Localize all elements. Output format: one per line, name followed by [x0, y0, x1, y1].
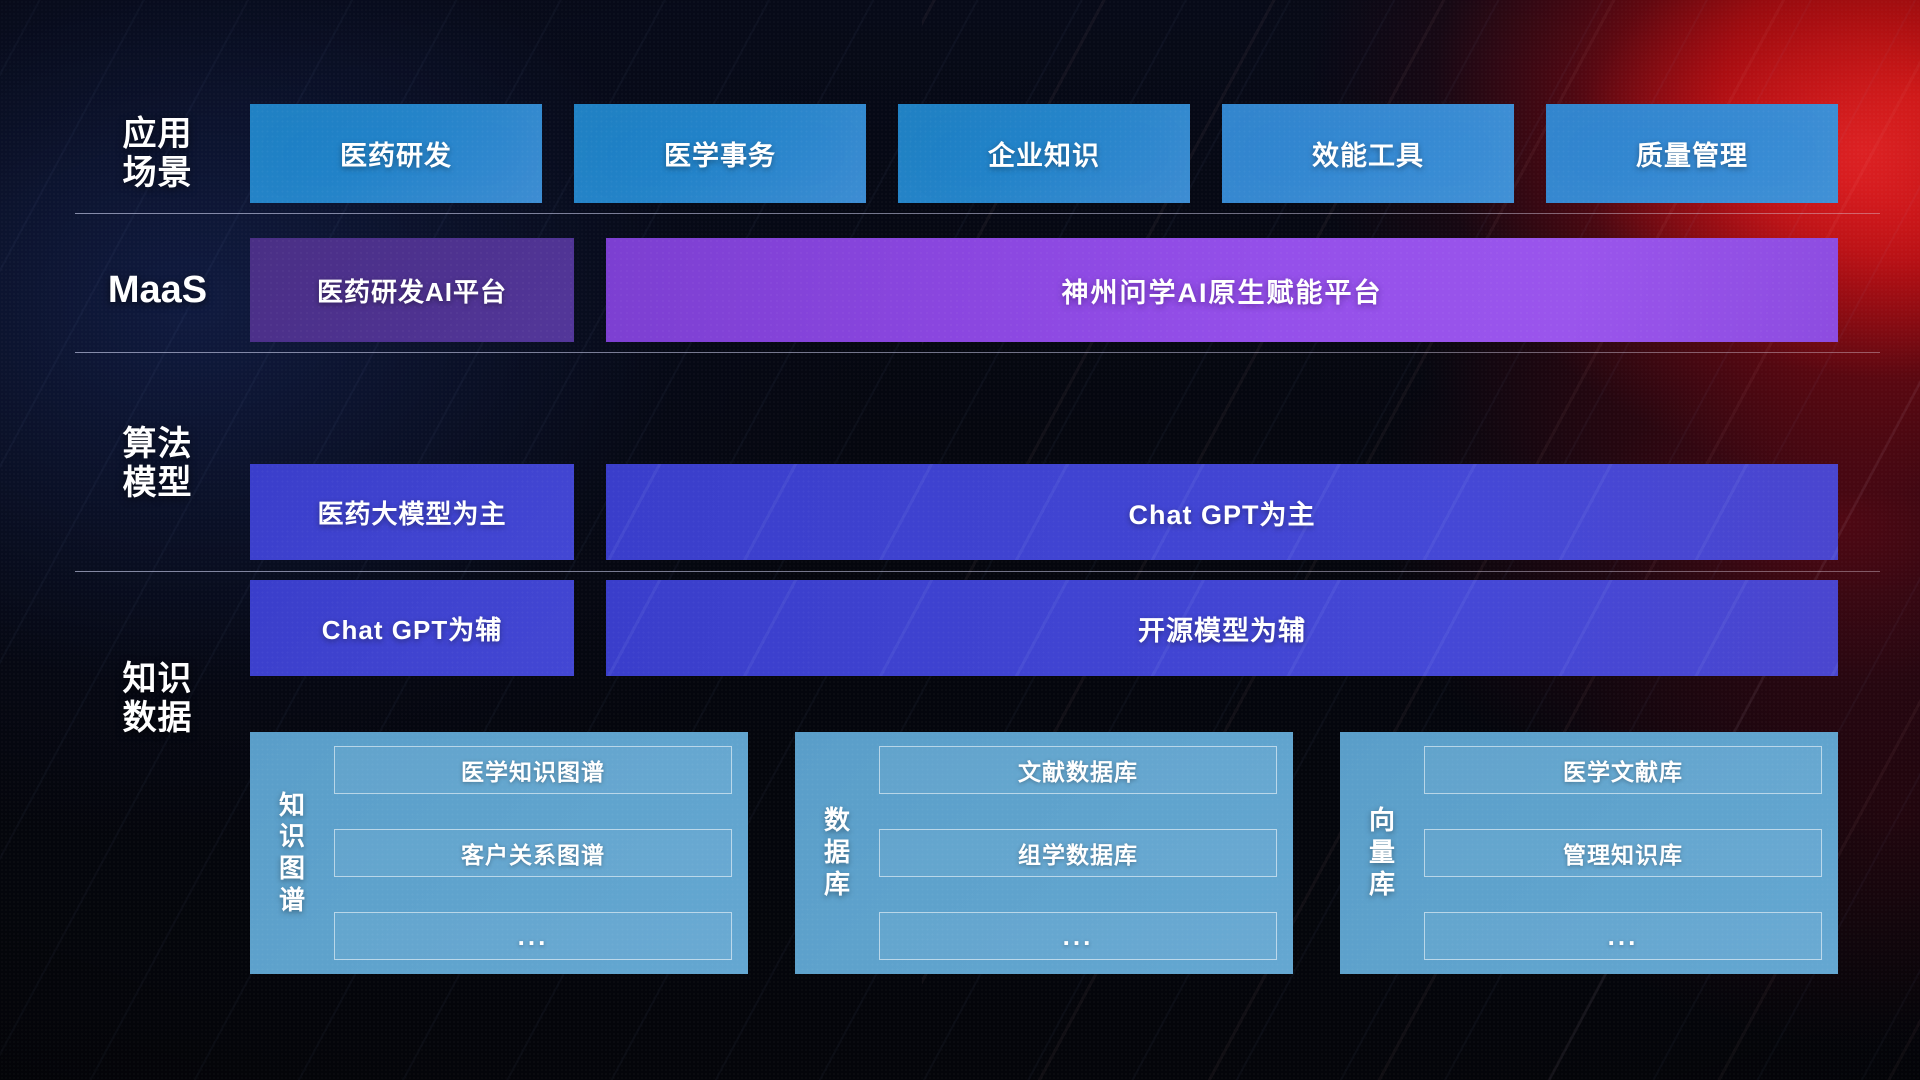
row-label-maas: MaaS [75, 268, 240, 312]
knowledge-panel-database: 数 据 库 文献数据库 组学数据库 ... [795, 732, 1293, 974]
vlabel-char-1: 知 [279, 790, 305, 822]
row-label-algorithm-models: 算法 模型 [75, 425, 240, 504]
row-label-knowledge-data: 知识 数据 [75, 660, 240, 739]
app-box-enterprise-knowledge[interactable]: 企业知识 [898, 104, 1190, 203]
knowledge-panel-vector-store: 向 量 库 医学文献库 管理知识库 ... [1340, 732, 1838, 974]
row-label-line-2: 模型 [75, 464, 240, 503]
vlabel-char-4: 谱 [279, 885, 305, 917]
row-label-application-scenarios: 应用 场景 [75, 115, 240, 194]
panel-vertical-label-vector-store: 向 量 库 [1354, 746, 1410, 960]
kd-item-literature-database[interactable]: 文献数据库 [879, 746, 1277, 794]
kd-item-omics-database[interactable]: 组学数据库 [879, 829, 1277, 877]
app-box-efficiency-tools[interactable]: 效能工具 [1222, 104, 1514, 203]
panel-vertical-label-database: 数 据 库 [809, 746, 865, 960]
algo-box-pharma-llm-primary[interactable]: 医药大模型为主 [250, 464, 574, 560]
vlabel-char-3: 库 [824, 869, 850, 901]
algorithm-model-line-secondary: Chat GPT为辅 开源模型为辅 [250, 580, 1838, 676]
row-label-line-1: 知识 [75, 660, 240, 699]
kd-item-more-knowledge-graph[interactable]: ... [334, 912, 732, 960]
row-label-line-2: 数据 [75, 699, 240, 738]
vlabel-char-1: 向 [1369, 805, 1395, 837]
maas-box-shenzhou-wenxue-platform[interactable]: 神州问学AI原生赋能平台 [606, 238, 1838, 342]
vlabel-char-1: 数 [824, 805, 850, 837]
maas-box-drug-rd-ai-platform[interactable]: 医药研发AI平台 [250, 238, 574, 342]
application-scenario-row: 医药研发 医学事务 企业知识 效能工具 质量管理 [250, 104, 1838, 203]
kd-item-more-vector-store[interactable]: ... [1424, 912, 1822, 960]
slide-canvas: 应用 场景 医药研发 医学事务 企业知识 效能工具 质量管理 MaaS 医药研发… [0, 0, 1920, 1080]
maas-row: 医药研发AI平台 神州问学AI原生赋能平台 [250, 238, 1838, 342]
app-box-drug-rd[interactable]: 医药研发 [250, 104, 542, 203]
vlabel-char-3: 图 [279, 853, 305, 885]
row-label-line-1: 算法 [75, 425, 240, 464]
architecture-diagram: 应用 场景 医药研发 医学事务 企业知识 效能工具 质量管理 MaaS 医药研发… [0, 0, 1920, 1080]
algorithm-model-line-primary: 医药大模型为主 Chat GPT为主 [250, 464, 1838, 560]
kd-item-management-knowledge-store[interactable]: 管理知识库 [1424, 829, 1822, 877]
algo-box-chatgpt-secondary[interactable]: Chat GPT为辅 [250, 580, 574, 676]
app-box-quality-management[interactable]: 质量管理 [1546, 104, 1838, 203]
row-label-line-1: 应用 [75, 115, 240, 154]
section-divider-1 [75, 213, 1880, 214]
knowledge-data-row: 知 识 图 谱 医学知识图谱 客户关系图谱 ... 数 据 库 [250, 732, 1838, 974]
panel-item-list-database: 文献数据库 组学数据库 ... [879, 746, 1277, 960]
panel-item-list-vector-store: 医学文献库 管理知识库 ... [1424, 746, 1822, 960]
vlabel-char-2: 量 [1369, 837, 1395, 869]
vlabel-char-3: 库 [1369, 869, 1395, 901]
row-label-line-2: 场景 [75, 154, 240, 193]
algo-box-chatgpt-primary[interactable]: Chat GPT为主 [606, 464, 1838, 560]
panel-item-list-knowledge-graph: 医学知识图谱 客户关系图谱 ... [334, 746, 732, 960]
panel-vertical-label-knowledge-graph: 知 识 图 谱 [264, 746, 320, 960]
algo-box-opensource-secondary[interactable]: 开源模型为辅 [606, 580, 1838, 676]
algorithm-model-row: 医药大模型为主 Chat GPT为主 Chat GPT为辅 开源模型为辅 [250, 464, 1838, 676]
knowledge-panel-knowledge-graph: 知 识 图 谱 医学知识图谱 客户关系图谱 ... [250, 732, 748, 974]
app-box-medical-affairs[interactable]: 医学事务 [574, 104, 866, 203]
section-divider-2 [75, 352, 1880, 353]
kd-item-customer-relation-graph[interactable]: 客户关系图谱 [334, 829, 732, 877]
kd-item-medical-literature-store[interactable]: 医学文献库 [1424, 746, 1822, 794]
kd-item-more-database[interactable]: ... [879, 912, 1277, 960]
vlabel-char-2: 据 [824, 837, 850, 869]
kd-item-medical-knowledge-graph[interactable]: 医学知识图谱 [334, 746, 732, 794]
vlabel-char-2: 识 [279, 821, 305, 853]
